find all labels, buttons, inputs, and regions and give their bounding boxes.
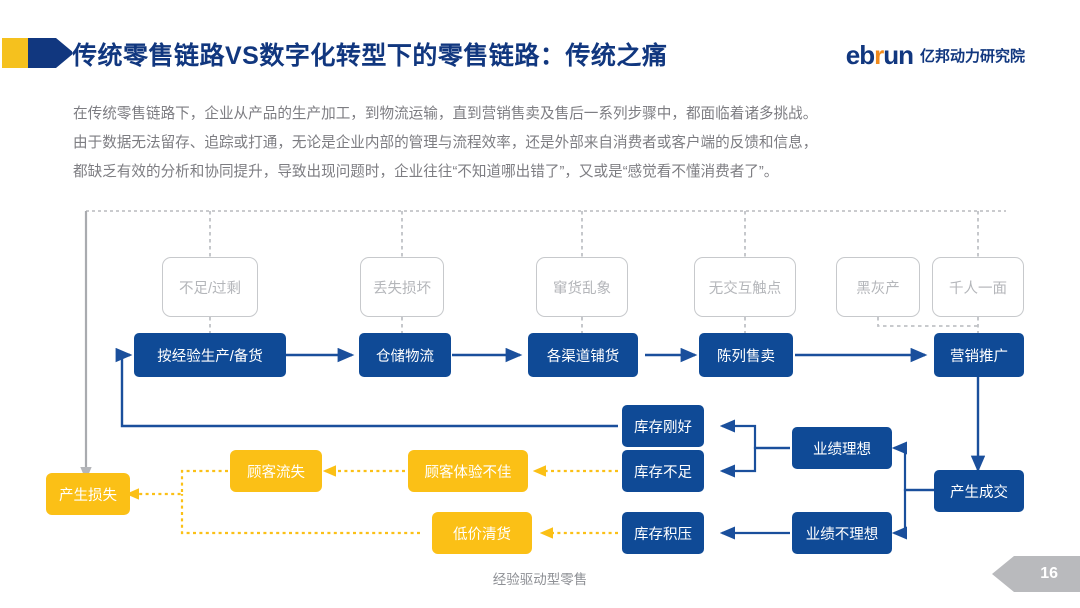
brand-chinese-name: 亿邦动力研究院 — [920, 45, 1025, 66]
brand-mark-un: un — [883, 40, 913, 70]
intro-line-3: 都缺乏有效的分析和协同提升，导致出现问题时，企业往往“不知道哪出错了”，又或是“… — [73, 158, 1013, 187]
pain-point-node[interactable]: 窜货乱象 — [536, 257, 628, 317]
loss-node[interactable]: 顾客体验不佳 — [408, 450, 528, 492]
pain-point-node[interactable]: 不足/过剩 — [162, 257, 258, 317]
outcome-node[interactable]: 业绩不理想 — [792, 512, 892, 554]
chain-node[interactable]: 陈列售卖 — [699, 333, 793, 377]
diagram-connectors — [0, 195, 1080, 585]
outcome-node[interactable]: 产生成交 — [934, 470, 1024, 512]
slide: 传统零售链路VS数字化转型下的零售链路：传统之痛 ebrun 亿邦动力研究院 在… — [0, 0, 1080, 608]
pain-point-node[interactable]: 无交互触点 — [694, 257, 796, 317]
intro-paragraph: 在传统零售链路下，企业从产品的生产加工，到物流运输，直到营销售卖及售后一系列步骤… — [73, 100, 1013, 187]
loss-node[interactable]: 低价清货 — [432, 512, 532, 554]
chain-node[interactable]: 仓储物流 — [359, 333, 451, 377]
brand-wordmark: ebrun — [846, 42, 913, 68]
outcome-node[interactable]: 库存积压 — [622, 512, 704, 554]
chain-node[interactable]: 营销推广 — [934, 333, 1024, 377]
outcome-node[interactable]: 业绩理想 — [792, 427, 892, 469]
pain-point-node[interactable]: 千人一面 — [932, 257, 1024, 317]
chain-node[interactable]: 各渠道铺货 — [528, 333, 638, 377]
brand-mark-r: r — [874, 40, 883, 70]
pain-point-node[interactable]: 丢失损坏 — [360, 257, 444, 317]
retail-chain-diagram: 不足/过剩 丢失损坏 窜货乱象 无交互触点 黑灰产 千人一面 按经验生产/备货 … — [0, 195, 1080, 585]
chain-node[interactable]: 按经验生产/备货 — [134, 333, 286, 377]
outcome-node[interactable]: 库存不足 — [622, 450, 704, 492]
intro-line-2: 由于数据无法留存、追踪或打通，无论是企业内部的管理与流程效率，还是外部来自消费者… — [73, 129, 1013, 158]
logo-arrows — [2, 28, 72, 78]
outcome-node[interactable]: 库存刚好 — [622, 405, 704, 447]
brand-logo: ebrun 亿邦动力研究院 — [846, 40, 1025, 70]
diagram-caption: 经验驱动型零售 — [0, 568, 1080, 588]
intro-line-1: 在传统零售链路下，企业从产品的生产加工，到物流运输，直到营销售卖及售后一系列步骤… — [73, 100, 1013, 129]
loss-node[interactable]: 顾客流失 — [230, 450, 322, 492]
loss-node[interactable]: 产生损失 — [46, 473, 130, 515]
brand-mark-eb: eb — [846, 40, 874, 70]
page-title: 传统零售链路VS数字化转型下的零售链路：传统之痛 — [72, 36, 752, 72]
pain-point-node[interactable]: 黑灰产 — [836, 257, 920, 317]
